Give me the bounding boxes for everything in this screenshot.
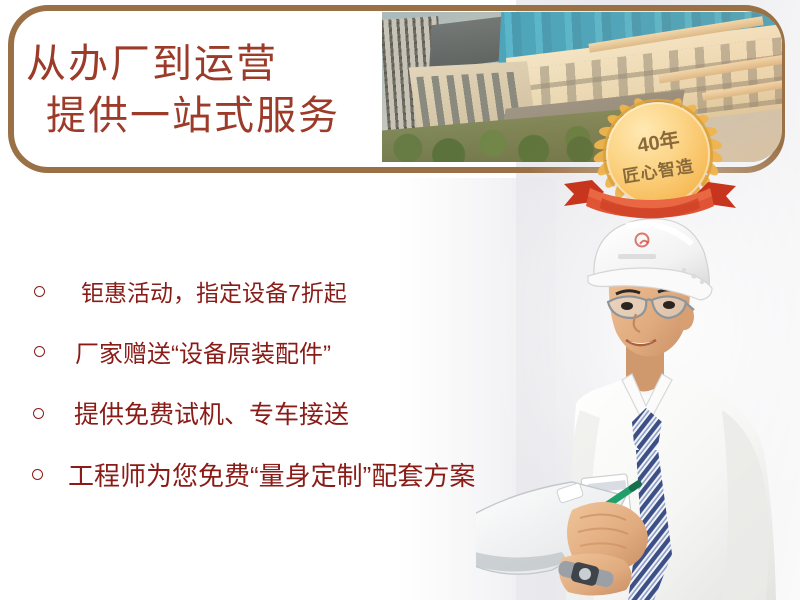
headline-line-2: 提供一站式服务: [26, 94, 376, 140]
headline-line-1: 从办厂到运营: [26, 42, 376, 88]
bullet-circle-icon: [32, 469, 43, 480]
benefit-text-1: 钜惠活动，指定设备7折起: [81, 274, 347, 308]
engineer-eye-right: [663, 301, 675, 309]
badge-years-label: 40年: [635, 123, 681, 158]
list-item: 厂家赠送“设备原装配件”: [26, 320, 496, 382]
bullet-circle-icon: [34, 286, 45, 297]
promotional-banner: 从办厂到运营 提供一站式服务: [0, 0, 800, 600]
engineer-photo: [476, 214, 800, 600]
benefit-text-4: 工程师为您免费“量身定制”配套方案: [68, 456, 475, 493]
benefit-text-2: 厂家赠送“设备原装配件”: [75, 334, 331, 369]
anniversary-badge: 40年 匠心智造: [584, 92, 736, 232]
engineer-eye-left: [621, 302, 633, 310]
list-item: 提供免费试机、专车接送: [26, 382, 496, 444]
bullet-circle-icon: [33, 408, 44, 419]
benefits-list: 钜惠活动，指定设备7折起 厂家赠送“设备原装配件” 提供免费试机、专车接送 工程…: [26, 262, 496, 504]
list-item: 工程师为您免费“量身定制”配套方案: [26, 444, 496, 504]
hard-hat-brand-text: [618, 254, 656, 259]
bullet-circle-icon: [34, 346, 45, 357]
list-item: 钜惠活动，指定设备7折起: [26, 262, 496, 320]
engineer-illustration: [476, 214, 800, 600]
benefit-text-3: 提供免费试机、专车接送: [74, 395, 349, 431]
headline-block: 从办厂到运营 提供一站式服务: [26, 16, 376, 166]
red-ribbon-banner-icon: [562, 176, 738, 230]
engineer-sleeve-shadow: [722, 410, 769, 600]
